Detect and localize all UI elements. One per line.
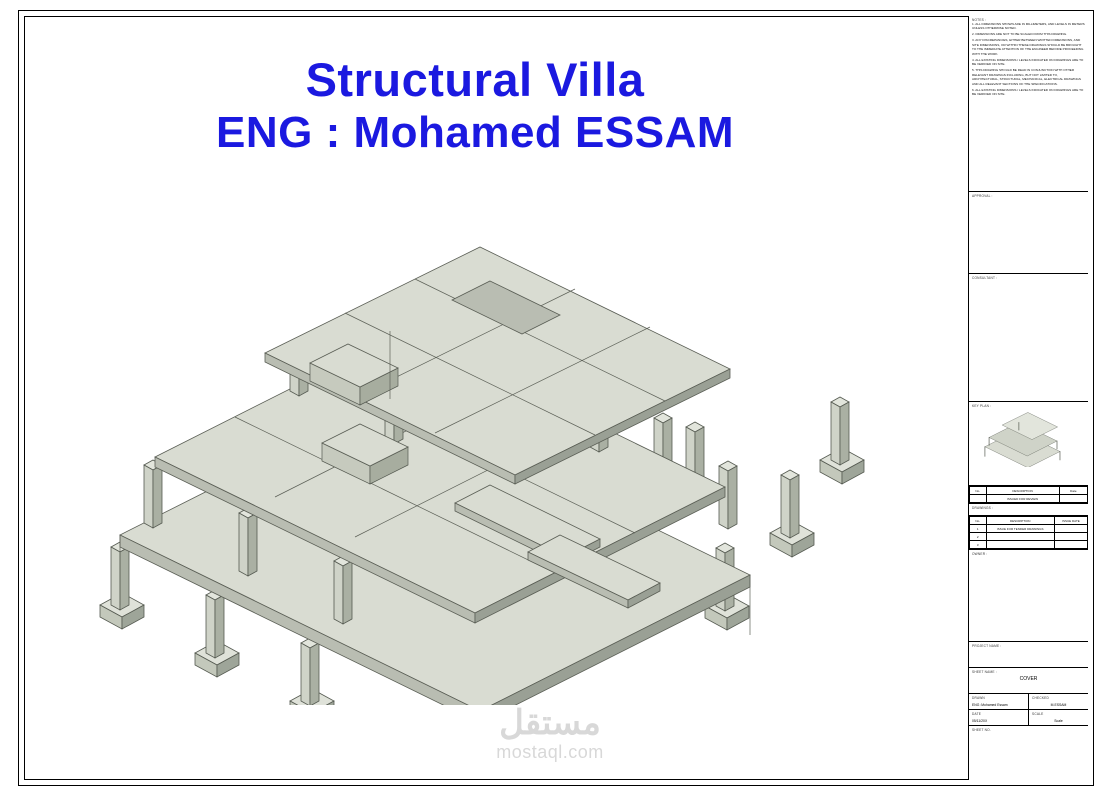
consultant-label: CONSULTANT :	[972, 276, 1085, 280]
sheet-no-label: SHEET NO.	[972, 728, 1085, 732]
owner-label: OWNER :	[972, 552, 1085, 556]
watermark-arabic: مستقل	[430, 706, 670, 740]
revision-col-date: Date	[1059, 487, 1087, 495]
note-item: 2. DIMENSIONS ARE NOT TO BE SCALED FROM …	[972, 32, 1085, 36]
table-row: ISSUED FOR REVIEW	[970, 495, 1088, 503]
drawn-value: ENG :Mohamed Essam	[972, 703, 1025, 707]
owner-section: OWNER :	[969, 550, 1088, 642]
issue-table: No. DESCRIPTION ISSUE DATE 1 ISSUE FOR T…	[969, 516, 1088, 549]
drawn-label: DRAWN	[972, 696, 1025, 700]
issue-no: 3	[970, 541, 987, 549]
drawn-cell: DRAWN ENG :Mohamed Essam	[969, 694, 1029, 709]
title-block: NOTES : 1. ALL DIMENSIONS SHOWN ARE IN M…	[968, 16, 1088, 780]
project-name-label: PROJECT NAME :	[972, 644, 1085, 648]
date-cell: DATE 05/11/20X	[969, 710, 1029, 725]
approval-section: APPROVAL :	[969, 192, 1088, 274]
drawings-label: DRAWINGS :	[972, 506, 1085, 510]
issue-col-desc: DESCRIPTION	[986, 517, 1054, 525]
sheet-no-section: SHEET NO.	[969, 726, 1088, 740]
issue-col-no: No.	[970, 517, 987, 525]
issue-no: 2	[970, 533, 987, 541]
scale-cell: SCALE Scale	[1029, 710, 1088, 725]
issue-no: 1	[970, 525, 987, 533]
note-item: 1. ALL DIMENSIONS SHOWN ARE IN MILLIMETE…	[972, 22, 1085, 31]
notes-text: 1. ALL DIMENSIONS SHOWN ARE IN MILLIMETE…	[972, 22, 1085, 97]
drawn-checked-section: DRAWN ENG :Mohamed Essam CHECKED M.ESSAM	[969, 694, 1088, 710]
table-row: 1 ISSUE FOR TENDER DRAWINGS	[970, 525, 1088, 533]
issue-desc	[986, 533, 1054, 541]
watermark-latin: mostaql.com	[430, 742, 670, 763]
project-name-section: PROJECT NAME :	[969, 642, 1088, 668]
issue-section: No. DESCRIPTION ISSUE DATE 1 ISSUE FOR T…	[969, 516, 1088, 550]
note-item: 4. ALL EXISTING DIMENSIONS / LEVELS INDI…	[972, 58, 1085, 67]
revision-col-desc: DESCRIPTION	[986, 487, 1059, 495]
note-item: 5. THIS DRAWING SHOULD BE READ IN CONJUN…	[972, 68, 1085, 86]
table-row: 2	[970, 533, 1088, 541]
revision-desc: ISSUED FOR REVIEW	[986, 495, 1059, 503]
date-scale-section: DATE 05/11/20X SCALE Scale	[969, 710, 1088, 726]
notes-section: NOTES : 1. ALL DIMENSIONS SHOWN ARE IN M…	[969, 16, 1088, 192]
revision-no	[970, 495, 987, 503]
issue-date	[1054, 541, 1087, 549]
checked-label: CHECKED	[1032, 696, 1085, 700]
title-line-2: ENG : Mohamed ESSAM	[0, 107, 950, 159]
revision-section: No. DESCRIPTION Date ISSUED FOR REVIEW	[969, 486, 1088, 504]
consultant-section: CONSULTANT :	[969, 274, 1088, 402]
issue-col-date: ISSUE DATE	[1054, 517, 1087, 525]
revision-col-no: No.	[970, 487, 987, 495]
note-item: 3. ANY DISCREPANCIES, EITHER BETWEEN WRI…	[972, 38, 1085, 56]
keyplan-section: KEY PLAN :	[969, 402, 1088, 486]
keyplan-thumbnail	[972, 408, 1085, 470]
approval-label: APPROVAL :	[972, 194, 1085, 198]
issue-date	[1054, 525, 1087, 533]
date-value: 05/11/20X	[972, 719, 1025, 723]
structural-3d-model: .slabT{fill:#d9dcd2;stroke:#5a5e55;strok…	[60, 235, 920, 705]
table-row: 3	[970, 541, 1088, 549]
sheet-name-value: COVER	[972, 674, 1085, 684]
checked-value: M.ESSAM	[1032, 703, 1085, 707]
table-header-row: No. DESCRIPTION ISSUE DATE	[970, 517, 1088, 525]
revision-table: No. DESCRIPTION Date ISSUED FOR REVIEW	[969, 486, 1088, 503]
issue-desc: ISSUE FOR TENDER DRAWINGS	[986, 525, 1054, 533]
drawing-sheet: Structural Villa ENG : Mohamed ESSAM .sl…	[0, 0, 1112, 795]
page-title: Structural Villa ENG : Mohamed ESSAM	[0, 52, 950, 159]
scale-label: SCALE	[1032, 712, 1085, 716]
sheet-name-section: SHEET NAME : COVER	[969, 668, 1088, 694]
issue-date	[1054, 533, 1087, 541]
date-label: DATE	[972, 712, 1025, 716]
revision-date	[1059, 495, 1087, 503]
scale-value: Scale	[1032, 719, 1085, 723]
title-line-1: Structural Villa	[0, 52, 950, 107]
drawings-section: DRAWINGS :	[969, 504, 1088, 516]
table-header-row: No. DESCRIPTION Date	[970, 487, 1088, 495]
watermark: مستقل mostaql.com	[430, 706, 670, 763]
note-item: 6. ALL EXISTING DIMENSIONS / LEVELS INDI…	[972, 88, 1085, 97]
checked-cell: CHECKED M.ESSAM	[1029, 694, 1088, 709]
issue-desc	[986, 541, 1054, 549]
